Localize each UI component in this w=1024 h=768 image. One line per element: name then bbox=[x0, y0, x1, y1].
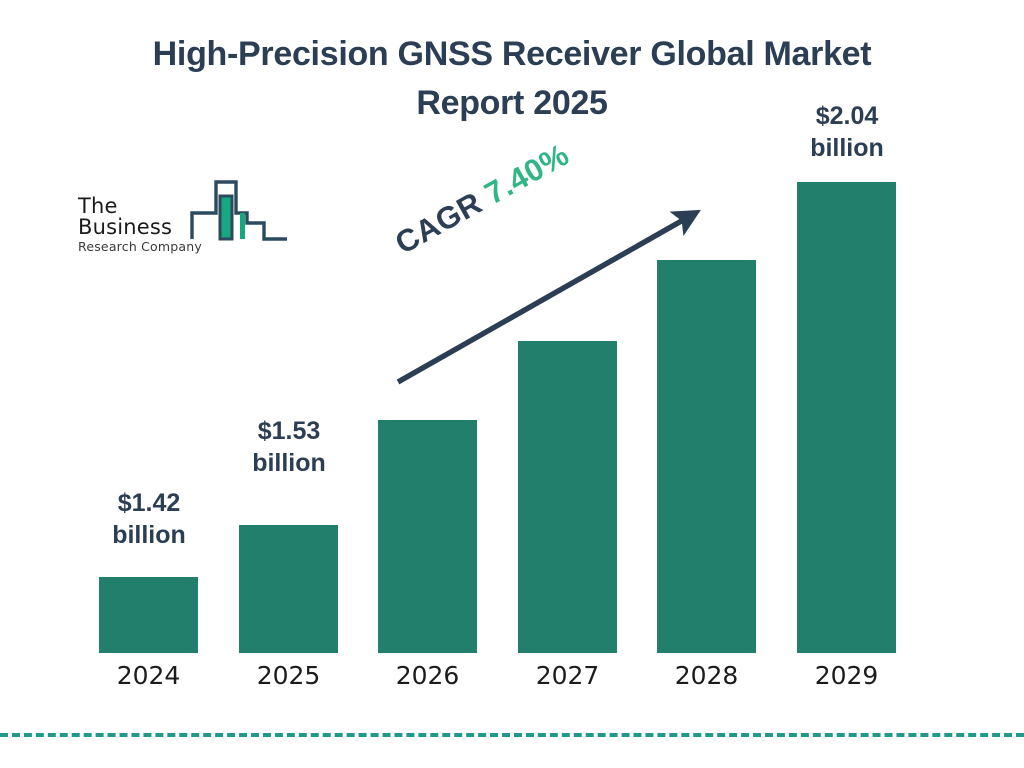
x-tick-2024: 2024 bbox=[99, 661, 198, 690]
x-tick-2025: 2025 bbox=[239, 661, 338, 690]
bar-2028 bbox=[657, 260, 756, 653]
bar-2026 bbox=[378, 420, 477, 653]
chart-canvas: High-Precision GNSS Receiver Global Mark… bbox=[0, 0, 1024, 768]
x-tick-2028: 2028 bbox=[657, 661, 756, 690]
footer-divider bbox=[0, 733, 1024, 737]
bar-chart-plot-area: $1.42 billion $1.53 billion $2.04 billio… bbox=[0, 0, 1024, 768]
bar-value-label-2025: $1.53 billion bbox=[214, 415, 364, 479]
bar-value-label-2024: $1.42 billion bbox=[74, 487, 224, 551]
bar-2024 bbox=[99, 577, 198, 653]
x-tick-2029: 2029 bbox=[797, 661, 896, 690]
cagr-label-value: 7.40% bbox=[479, 137, 575, 211]
cagr-label: CAGR 7.40% bbox=[389, 137, 575, 262]
bar-value-label-2029: $2.04 billion bbox=[772, 100, 922, 164]
cagr-label-word: CAGR bbox=[389, 181, 496, 261]
bar-2027 bbox=[518, 341, 617, 653]
x-tick-2027: 2027 bbox=[518, 661, 617, 690]
bar-2025 bbox=[239, 525, 338, 653]
x-tick-2026: 2026 bbox=[378, 661, 477, 690]
bar-2029 bbox=[797, 182, 896, 653]
